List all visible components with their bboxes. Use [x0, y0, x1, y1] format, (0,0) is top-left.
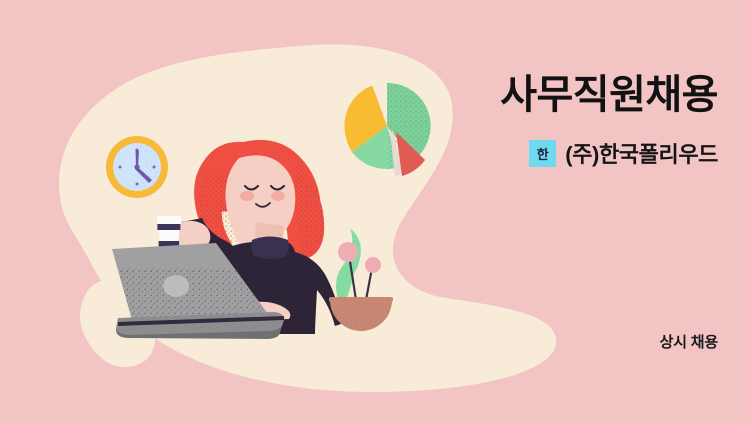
job-posting-banner: 사무직원채용 한 (주)한국폴리우드 상시 채용 — [0, 0, 750, 424]
company-name: (주)한국폴리우드 — [565, 137, 718, 169]
cheek-right — [271, 191, 285, 201]
sweater-collar — [251, 237, 288, 260]
page-title: 사무직원채용 — [500, 74, 718, 116]
company-badge-icon: 한 — [529, 140, 556, 167]
wall-clock — [106, 136, 168, 198]
illustration-canvas — [0, 0, 750, 424]
company-row: 한 (주)한국폴리우드 — [529, 137, 718, 169]
hiring-type-label: 상시 채용 — [660, 331, 718, 352]
cheek-left — [240, 191, 254, 201]
